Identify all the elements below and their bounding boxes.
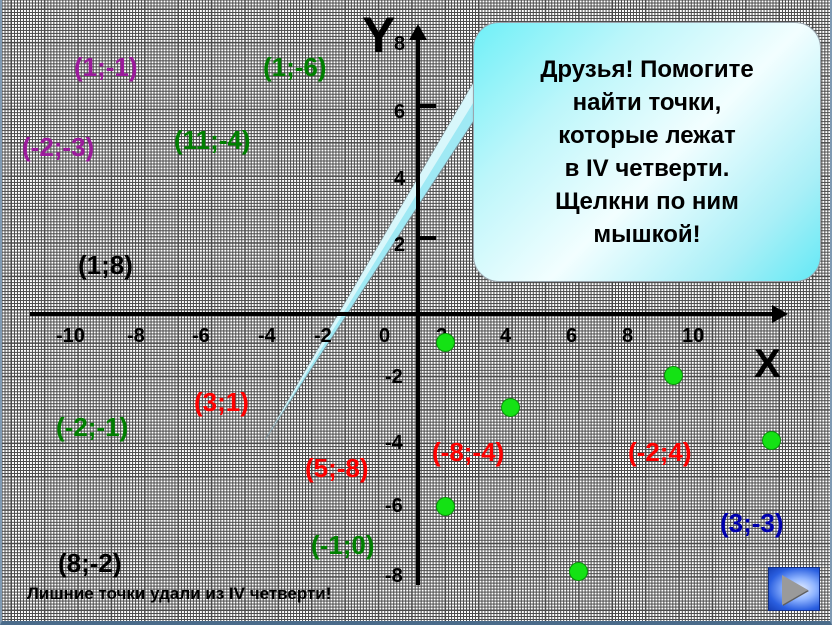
speech-bubble: Друзья! Помогите найти точки, которые ле…: [473, 22, 821, 282]
dot-4-neg3[interactable]: [501, 398, 520, 417]
y-axis-arrow: [409, 24, 427, 40]
y-axis-label: Y: [362, 10, 395, 60]
bubble-line-2: найти точки,: [573, 89, 722, 116]
coordinate-label[interactable]: (-2;-1): [56, 412, 128, 443]
coordinate-label[interactable]: (5;-8): [305, 453, 369, 484]
x-tick-neg6: -6: [192, 325, 210, 348]
bubble-line-3: которые лежат: [558, 122, 735, 149]
y-tick-6: 6: [394, 101, 405, 124]
bubble-line-5: Щелкни по ним: [555, 188, 739, 215]
y-axis-tick-mark: [420, 104, 436, 108]
x-tick-neg2: -2: [314, 325, 332, 348]
dot-12-neg4[interactable]: [762, 431, 781, 450]
x-tick-4: 4: [500, 325, 511, 348]
y-tick-neg8: -8: [385, 565, 403, 588]
y-axis-tick-mark: [420, 236, 436, 240]
next-slide-button[interactable]: [768, 567, 820, 611]
dot-2-neg6[interactable]: [436, 497, 455, 516]
y-tick-2: 2: [394, 234, 405, 257]
play-triangle-icon: [782, 575, 808, 605]
x-tick-0: 0: [379, 325, 390, 348]
dot-2-neg1[interactable]: [436, 333, 455, 352]
bubble-line-4: в IV четверти.: [565, 155, 730, 182]
coordinate-label[interactable]: (8;-2): [58, 548, 122, 579]
y-tick-neg6: -6: [385, 495, 403, 518]
x-tick-6: 6: [566, 325, 577, 348]
coordinate-label[interactable]: (3;-3): [720, 508, 784, 539]
coordinate-label[interactable]: (-1;0): [311, 530, 375, 561]
x-tick-8: 8: [622, 325, 633, 348]
coordinate-label[interactable]: (3;1): [194, 387, 249, 418]
coordinate-label[interactable]: (1;-1): [74, 52, 138, 83]
coordinate-label[interactable]: (-2;-3): [22, 132, 94, 163]
bubble-line-6: мышкой!: [593, 221, 700, 248]
x-tick-neg4: -4: [258, 325, 276, 348]
x-axis-arrow: [772, 305, 788, 323]
x-axis-line: [30, 312, 780, 316]
coordinate-label[interactable]: (1;8): [78, 250, 133, 281]
coordinate-label[interactable]: (11;-4): [174, 125, 251, 156]
y-tick-neg2: -2: [385, 366, 403, 389]
bubble-line-1: Друзья! Помогите: [540, 56, 753, 83]
x-axis-label: X: [754, 344, 781, 384]
footer-note: Лишние точки удали из IV четверти!: [27, 584, 331, 604]
slide-canvas: Друзья! Помогите найти точки, которые ле…: [0, 0, 832, 625]
x-tick-neg10: -10: [56, 325, 85, 348]
coordinate-label[interactable]: (-2;4): [628, 437, 692, 468]
coordinate-label[interactable]: (-8;-4): [432, 437, 504, 468]
x-tick-neg8: -8: [127, 325, 145, 348]
speech-bubble-text: Друзья! Помогите найти точки, которые ле…: [518, 53, 775, 251]
y-tick-4: 4: [394, 168, 405, 191]
y-tick-neg4: -4: [385, 432, 403, 455]
coordinate-label[interactable]: (1;-6): [263, 52, 327, 83]
dot-10-neg2[interactable]: [664, 366, 683, 385]
x-tick-10: 10: [682, 325, 704, 348]
y-tick-8: 8: [394, 33, 405, 56]
dot-6-neg8[interactable]: [569, 562, 588, 581]
y-axis-line: [416, 38, 420, 585]
